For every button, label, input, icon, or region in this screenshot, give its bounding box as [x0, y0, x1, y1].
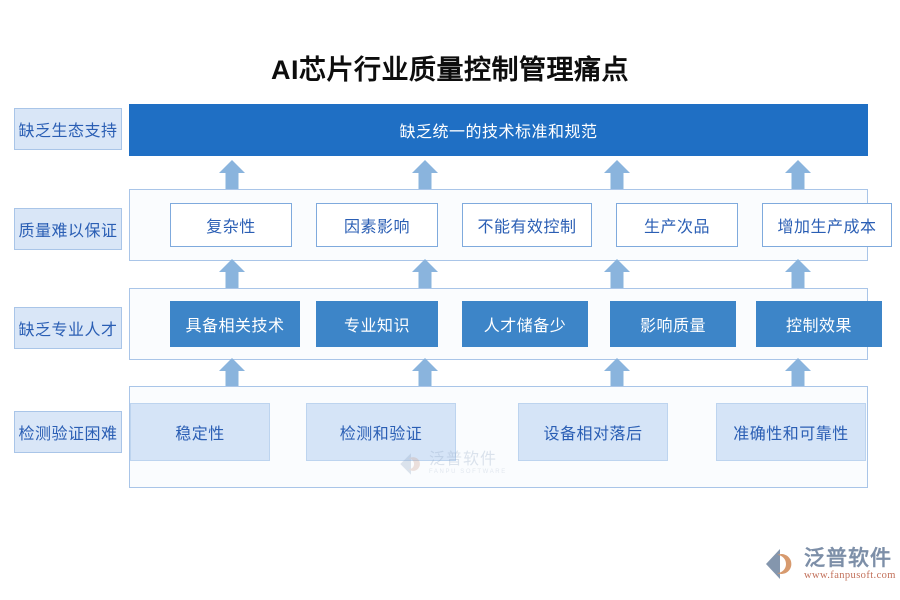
category-label-0-text: 缺乏生态支持: [18, 117, 117, 141]
category-label-1-text: 质量难以保证: [18, 217, 117, 241]
row-band-0: 缺乏统一的技术标准和规范: [129, 104, 868, 156]
item-box-relevant-technology[interactable]: 具备相关技术: [170, 301, 300, 347]
category-label-1: 质量难以保证: [14, 208, 122, 250]
category-label-2-text: 缺乏专业人才: [18, 316, 117, 340]
brand-logo: 泛普软件 www.fanpusoft.com: [764, 540, 892, 588]
item-box-outdated-equipment[interactable]: 设备相对落后: [518, 403, 668, 461]
item-box-expertise[interactable]: 专业知识: [316, 301, 438, 347]
item-box-complexity[interactable]: 复杂性: [170, 203, 292, 247]
row-band-1: 复杂性 因素影响 不能有效控制 生产次品 增加生产成本: [129, 189, 868, 261]
brand-name-text: 泛普软件: [804, 547, 896, 570]
banner-item-0: 缺乏统一的技术标准和规范: [130, 118, 867, 142]
item-box-talent-shortage[interactable]: 人才储备少: [462, 301, 588, 347]
category-label-3: 检测验证困难: [14, 411, 122, 453]
row-band-2: 具备相关技术 专业知识 人才储备少 影响质量 控制效果: [129, 288, 868, 360]
category-label-2: 缺乏专业人才: [14, 307, 122, 349]
item-box-factor-impact[interactable]: 因素影响: [316, 203, 438, 247]
item-box-accuracy-reliability[interactable]: 准确性和可靠性: [716, 403, 866, 461]
page-title: AI芯片行业质量控制管理痛点: [0, 48, 900, 87]
item-box-control-effect[interactable]: 控制效果: [756, 301, 882, 347]
item-box-defective-products[interactable]: 生产次品: [616, 203, 738, 247]
category-label-3-text: 检测验证困难: [18, 420, 117, 444]
brand-url-text: www.fanpusoft.com: [804, 570, 896, 582]
item-box-testing-verification[interactable]: 检测和验证: [306, 403, 456, 461]
fanpu-logo-icon: [764, 547, 798, 581]
item-box-stability[interactable]: 稳定性: [130, 403, 270, 461]
category-label-0: 缺乏生态支持: [14, 108, 122, 150]
item-box-ineffective-control[interactable]: 不能有效控制: [462, 203, 592, 247]
row-band-3: 稳定性 检测和验证 设备相对落后 准确性和可靠性: [129, 386, 868, 488]
item-box-quality-impact[interactable]: 影响质量: [610, 301, 736, 347]
slide-canvas: AI芯片行业质量控制管理痛点 缺乏生态支持 质量难以保证 缺乏专业人才 检测验证…: [0, 0, 900, 600]
item-box-increased-cost[interactable]: 增加生产成本: [762, 203, 892, 247]
